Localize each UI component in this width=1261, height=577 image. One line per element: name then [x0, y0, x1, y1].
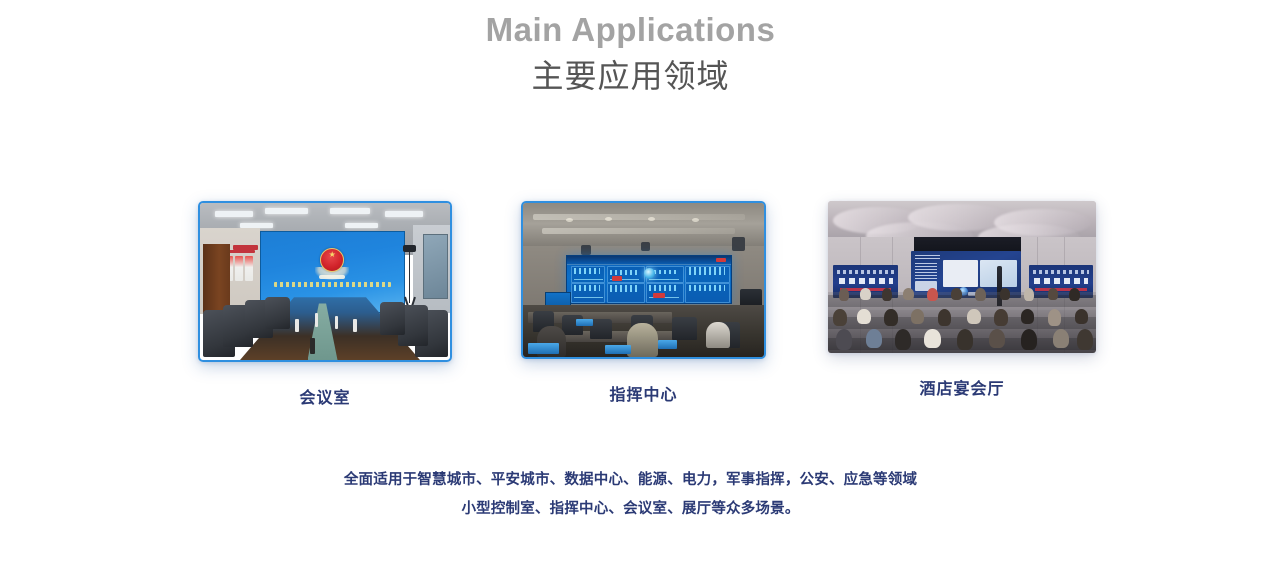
wall-poster — [235, 256, 243, 281]
banner-headline — [839, 278, 893, 285]
divider-line — [649, 279, 678, 280]
desk-monitor — [528, 343, 559, 354]
dashboard-header-bar — [567, 256, 731, 264]
video-wall-display — [566, 255, 732, 303]
description-line-2: 小型控制室、指挥中心、会议室、展厅等众多场景。 — [0, 495, 1261, 524]
bar-chart — [689, 285, 725, 291]
audience-head — [882, 288, 893, 302]
audience-head — [1024, 288, 1035, 302]
audience-head — [1048, 288, 1059, 300]
audience-head — [994, 309, 1007, 326]
audience-head — [857, 309, 870, 324]
ceiling-light-panel — [385, 211, 423, 217]
person-silhouette — [627, 323, 658, 357]
audience-head — [866, 329, 882, 349]
table-microphone — [295, 319, 299, 332]
wall-poster — [245, 256, 253, 281]
audience-head — [860, 288, 871, 300]
ceiling-light-panel — [330, 208, 370, 214]
audience-head — [938, 309, 951, 326]
audience-head — [989, 329, 1005, 349]
banquet-hall-photo-frame[interactable] — [828, 201, 1096, 353]
application-card-conference-room[interactable]: ★ — [198, 201, 452, 408]
emblem-star: ★ — [329, 251, 336, 259]
audience-head — [975, 288, 986, 302]
slide-heading-text — [915, 255, 939, 260]
description-line-1: 全面适用于智慧城市、平安城市、数据中心、能源、电力，军事指挥，公安、应急等领域 — [0, 466, 1261, 495]
slide-diagram-panel — [943, 260, 978, 287]
application-cards-row: ★ — [0, 201, 1261, 416]
audience-head — [911, 309, 924, 324]
office-chair — [380, 302, 405, 335]
wall-speaker — [581, 245, 591, 256]
office-chair — [265, 297, 290, 328]
audience-head — [884, 309, 897, 326]
card-caption-command-center: 指挥中心 — [521, 381, 766, 405]
banner-logo-row — [837, 270, 894, 274]
divider-line — [574, 279, 603, 280]
card-caption-conference-room: 会议室 — [198, 384, 452, 408]
ceiling-downlight — [605, 217, 612, 221]
ceiling-band — [533, 214, 745, 220]
application-description: 全面适用于智慧城市、平安城市、数据中心、能源、电力，军事指挥，公安、应急等领域 … — [0, 466, 1261, 524]
desk-monitor — [605, 345, 632, 354]
divider-line — [574, 297, 603, 298]
ceiling-band — [542, 228, 735, 234]
application-card-banquet-hall[interactable]: 酒店宴会厅 — [828, 201, 1096, 399]
table-microphone — [335, 316, 338, 329]
desk-monitor — [576, 319, 593, 327]
card-caption-banquet-hall: 酒店宴会厅 — [828, 375, 1096, 399]
conference-room-photo: ★ — [200, 203, 450, 360]
bar-chart — [574, 268, 600, 274]
ceiling-light-panel — [265, 208, 308, 214]
audience-head — [957, 329, 973, 350]
table-item — [310, 338, 315, 354]
operator-chair — [590, 319, 612, 339]
audience-head — [1077, 329, 1093, 350]
audience-head — [1000, 288, 1011, 300]
wooden-cabinet — [203, 244, 231, 315]
audience-head — [903, 288, 914, 300]
page-header: Main Applications 主要应用领域 — [0, 0, 1261, 96]
page-title-english: Main Applications — [0, 0, 1261, 50]
command-center-photo — [523, 203, 764, 357]
audience-head — [833, 309, 846, 326]
status-badge — [716, 258, 726, 262]
audience-head — [1053, 329, 1069, 349]
banner-headline — [1034, 278, 1088, 285]
person-silhouette — [706, 322, 730, 348]
emblem-ribbon — [319, 275, 345, 279]
window — [423, 234, 448, 299]
ceiling-light-panel — [345, 223, 378, 228]
audience-head — [924, 329, 940, 349]
audience-head — [1075, 309, 1088, 324]
table-microphone — [315, 313, 318, 327]
wall-speaker — [641, 242, 650, 251]
bar-chart — [649, 285, 678, 291]
alert-badge — [653, 293, 665, 298]
table-microphone — [353, 319, 357, 332]
command-center-photo-frame[interactable] — [521, 201, 766, 359]
alert-badge — [612, 276, 622, 281]
audience-head — [1021, 329, 1037, 350]
audience-head — [1048, 309, 1061, 326]
audience-head — [951, 288, 962, 300]
application-card-command-center[interactable]: 指挥中心 — [521, 201, 766, 405]
bar-chart — [689, 267, 725, 274]
ceiling-light-panel — [215, 211, 253, 217]
operator-chair — [672, 317, 696, 340]
national-emblem-icon: ★ — [315, 246, 349, 280]
screen-title-text — [274, 282, 391, 287]
wall-speaker — [732, 237, 745, 251]
audience-head — [927, 288, 938, 302]
audience-head — [836, 329, 852, 350]
camera-tripod — [409, 250, 411, 303]
audience-head — [839, 288, 850, 302]
bar-chart — [574, 285, 600, 291]
banquet-hall-photo — [828, 201, 1096, 353]
page-title-chinese: 主要应用领域 — [0, 50, 1261, 96]
bar-chart — [610, 285, 639, 292]
audience-head — [967, 309, 980, 324]
banner-logo-row — [1033, 270, 1090, 274]
desk-monitor — [658, 340, 677, 349]
bar-chart — [610, 270, 639, 275]
audience-head — [1069, 288, 1080, 302]
conference-room-photo-frame[interactable]: ★ — [198, 201, 452, 362]
audience-head — [1021, 309, 1034, 324]
slide-body-text — [915, 263, 937, 279]
audience-head — [895, 329, 911, 350]
